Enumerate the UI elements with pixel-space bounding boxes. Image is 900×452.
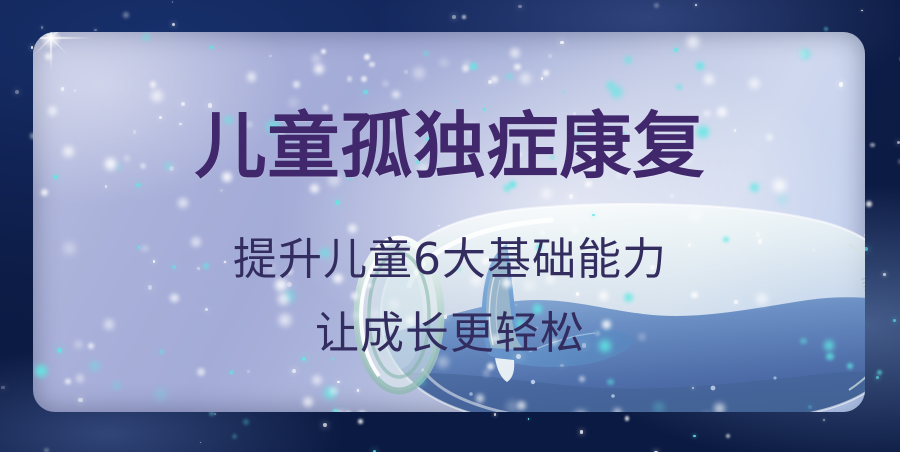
star-dot	[847, 363, 853, 369]
star-dot	[141, 245, 148, 252]
star-dot	[363, 90, 367, 94]
star-dot	[293, 81, 300, 88]
star-dot	[456, 266, 461, 271]
star-dot	[463, 60, 471, 68]
star-dot	[506, 243, 517, 254]
star-dot	[502, 278, 512, 288]
star-dot	[569, 194, 573, 198]
star-dot	[200, 442, 202, 444]
star-dot	[824, 340, 835, 351]
star-dot	[574, 411, 587, 412]
star-dot	[546, 274, 555, 283]
star-dot	[494, 413, 497, 416]
star-dot	[406, 316, 415, 325]
star-dot	[123, 12, 129, 18]
star-dot	[172, 23, 175, 26]
star-dot	[638, 333, 646, 341]
star-dot	[159, 349, 165, 355]
star-dot	[703, 110, 711, 118]
star-dot	[582, 343, 587, 348]
star-dot	[516, 354, 521, 359]
star-dot	[466, 122, 477, 133]
star-dot	[418, 163, 428, 173]
star-dot	[808, 405, 812, 409]
star-dot	[170, 294, 179, 303]
star-dot	[749, 78, 760, 89]
star-dot	[140, 163, 146, 169]
star-dot	[650, 265, 655, 270]
star-dot	[692, 387, 694, 389]
star-dot	[41, 26, 43, 28]
star-dot	[246, 121, 253, 128]
star-dot	[688, 243, 691, 246]
star-dot	[800, 49, 809, 58]
star-dot	[601, 231, 606, 236]
star-dot	[178, 198, 188, 208]
star-dot	[352, 311, 361, 320]
star-dot	[506, 400, 519, 412]
star-dot	[877, 370, 882, 375]
star-dot	[599, 340, 611, 352]
star-dot	[670, 194, 674, 198]
star-dot	[416, 160, 420, 164]
star-dot	[320, 248, 330, 258]
star-dot	[57, 348, 62, 353]
star-dot	[41, 189, 48, 196]
star-dot	[197, 368, 204, 375]
star-dot	[220, 189, 223, 192]
star-dot	[624, 293, 633, 302]
star-dot	[687, 36, 699, 48]
star-dot	[88, 343, 94, 349]
star-dot	[286, 268, 293, 275]
content-panel: made in china	[33, 32, 865, 412]
star-dot	[438, 225, 440, 227]
star-dot	[370, 309, 380, 319]
star-dot	[247, 72, 256, 81]
banner-root: made in china 儿童孤独症康复	[0, 0, 900, 452]
star-dot	[54, 175, 58, 179]
star-dot	[509, 181, 516, 188]
star-dot	[361, 76, 367, 82]
star-dot	[717, 107, 727, 117]
star-dot	[358, 419, 363, 424]
star-dot	[278, 293, 290, 305]
star-dot	[328, 174, 340, 186]
star-dot	[89, 361, 100, 372]
star-dot	[266, 263, 277, 274]
star-dot	[535, 327, 538, 330]
star-dot	[153, 260, 156, 263]
star-dot	[823, 419, 825, 421]
star-dot	[444, 315, 447, 318]
star-dot	[181, 102, 185, 106]
star-dot	[76, 374, 84, 382]
star-dot	[676, 84, 682, 90]
star-dot	[124, 155, 131, 162]
star-dot	[367, 283, 372, 288]
star-dot	[133, 130, 136, 133]
star-dot	[645, 247, 647, 249]
star-dot	[374, 263, 379, 268]
star-dot	[364, 54, 370, 60]
star-dot	[602, 320, 611, 329]
star-dot	[115, 163, 122, 170]
star-dot	[292, 369, 296, 373]
star-dot	[573, 112, 577, 116]
star-dot	[138, 246, 141, 249]
star-dot	[205, 308, 209, 312]
star-dot	[136, 183, 141, 188]
star-dot	[606, 81, 614, 89]
star-dot	[853, 411, 862, 412]
star-dot	[423, 51, 428, 56]
star-dot	[482, 257, 490, 265]
star-dot	[734, 300, 738, 304]
star-dot	[347, 76, 352, 81]
star-dot	[413, 67, 425, 79]
star-dot	[579, 376, 585, 382]
star-dot	[150, 81, 156, 87]
star-dot	[346, 411, 352, 412]
star-dot	[452, 15, 456, 19]
star-dot	[723, 237, 729, 243]
star-dot	[243, 419, 250, 426]
star-dot	[543, 70, 549, 76]
star-dot	[653, 402, 665, 412]
star-dot	[839, 82, 843, 86]
star-dot	[48, 106, 57, 115]
star-dot	[528, 418, 530, 420]
star-dot	[471, 275, 482, 286]
star-dot	[824, 27, 829, 32]
star-dot	[533, 304, 542, 313]
star-dot	[574, 132, 585, 143]
star-dot	[104, 319, 114, 329]
star-dot	[693, 435, 695, 437]
star-dot	[323, 423, 327, 427]
star-dot	[520, 73, 531, 84]
star-dot	[487, 363, 494, 370]
star-dot	[389, 299, 400, 310]
star-dot	[861, 10, 862, 11]
star-dot	[311, 54, 320, 63]
star-dot	[357, 389, 360, 392]
star-dot	[690, 211, 701, 222]
star-dot	[310, 184, 319, 193]
star-dot	[599, 291, 609, 301]
star-dot	[154, 388, 167, 401]
star-dot	[691, 292, 698, 299]
star-dot	[287, 282, 292, 287]
star-dot	[267, 121, 280, 134]
star-dot	[510, 48, 519, 57]
star-dot	[369, 62, 375, 68]
star-dot	[491, 335, 499, 343]
star-dot	[613, 408, 623, 412]
star-dot	[203, 263, 209, 269]
star-dot	[179, 123, 181, 125]
star-dot	[74, 89, 77, 92]
star-dot	[866, 201, 872, 207]
star-dot	[169, 166, 174, 171]
star-dot	[541, 188, 552, 199]
star-dot	[616, 173, 622, 179]
star-dot	[756, 293, 768, 305]
star-dot	[112, 381, 121, 390]
star-dot	[434, 121, 437, 124]
star-dot	[562, 91, 565, 94]
star-dot	[323, 105, 329, 111]
star-dot	[453, 101, 455, 103]
star-dot	[524, 280, 535, 291]
star-dot	[61, 87, 64, 90]
star-dot	[625, 416, 629, 420]
star-dot	[897, 141, 900, 144]
star-dot	[777, 194, 788, 205]
star-dot	[333, 409, 338, 412]
star-dot	[279, 314, 291, 326]
star-dot	[65, 379, 71, 385]
star-dot	[514, 64, 520, 70]
star-dot	[517, 401, 526, 410]
star-dot	[611, 86, 623, 98]
star-dot	[758, 239, 763, 244]
star-dot	[876, 376, 879, 379]
star-dot	[883, 273, 886, 276]
star-dot	[592, 214, 595, 217]
star-dot	[551, 338, 558, 345]
star-dot	[348, 224, 357, 233]
star-dot	[151, 90, 163, 102]
star-dot	[333, 274, 343, 284]
star-dot	[695, 4, 697, 6]
star-dot	[470, 63, 477, 70]
star-dot	[607, 379, 614, 386]
star-dot	[417, 377, 426, 386]
star-dot	[164, 162, 172, 170]
star-dot	[44, 448, 49, 452]
star-dot	[224, 261, 226, 263]
star-dot	[799, 50, 807, 58]
star-dot	[222, 172, 232, 182]
star-dot	[269, 55, 271, 57]
star-dot	[714, 403, 725, 412]
star-dot	[483, 369, 490, 376]
star-dot	[437, 356, 449, 368]
star-dot	[78, 398, 82, 402]
star-dot	[726, 434, 730, 438]
starburst-sparkle-icon	[33, 32, 94, 81]
star-dot	[63, 242, 76, 255]
star-dot	[214, 413, 216, 415]
star-dot	[63, 146, 74, 157]
star-dot	[337, 381, 340, 384]
star-dot	[312, 375, 322, 385]
star-dot	[550, 155, 555, 160]
star-dot	[462, 15, 467, 20]
star-dot	[470, 322, 480, 332]
star-dot	[397, 151, 399, 153]
star-dot	[654, 3, 659, 8]
star-dot	[595, 331, 600, 336]
star-dot	[382, 80, 389, 87]
star-dot	[870, 143, 874, 147]
star-dot	[303, 397, 313, 407]
star-dot	[392, 91, 400, 99]
star-dot	[321, 49, 327, 55]
star-dot	[696, 62, 704, 70]
star-dot	[335, 200, 340, 205]
star-dot	[734, 129, 736, 131]
star-dot	[148, 285, 153, 290]
star-dot	[503, 184, 511, 192]
star-dot	[408, 242, 410, 244]
star-dot	[302, 357, 307, 362]
star-dot	[15, 90, 19, 94]
star-dot	[540, 230, 545, 235]
star-dot	[247, 370, 250, 373]
panel-light-bloom	[33, 32, 865, 412]
star-dot	[172, 265, 176, 269]
star-dot	[773, 179, 786, 192]
star-dot	[275, 279, 287, 291]
star-dot	[314, 64, 325, 75]
star-dot	[517, 152, 522, 157]
star-dot	[404, 70, 408, 74]
star-dot	[329, 387, 338, 396]
star-dot	[348, 178, 350, 180]
star-dot	[491, 76, 498, 83]
star-dot	[674, 48, 678, 52]
star-dot	[756, 232, 761, 237]
star-dot	[332, 358, 334, 360]
star-dot	[299, 126, 301, 128]
star-dot	[197, 267, 200, 270]
star-dot	[532, 265, 536, 269]
star-dot	[417, 145, 429, 157]
star-dot	[548, 54, 552, 58]
star-dot	[427, 357, 430, 360]
star-dot	[426, 137, 430, 141]
star-dot	[358, 411, 366, 412]
star-dot	[586, 155, 599, 168]
star-dot	[105, 158, 117, 170]
svg-text:made in: made in	[858, 275, 865, 322]
star-dot	[516, 319, 524, 327]
star-dot	[813, 249, 815, 251]
star-dot	[172, 1, 174, 3]
star-dot	[624, 56, 632, 64]
star-dot	[1, 386, 5, 390]
star-dot	[518, 5, 522, 9]
star-dot	[288, 97, 299, 108]
star-dot	[826, 353, 834, 361]
star-dot	[210, 46, 213, 49]
star-dot	[439, 58, 449, 68]
star-dot	[142, 33, 150, 41]
star-dot	[230, 371, 233, 374]
star-dot	[682, 154, 692, 164]
glass-bottle-illustration: made in china	[283, 182, 865, 412]
star-dot	[224, 116, 233, 125]
star-dot	[580, 430, 583, 433]
star-dot	[560, 41, 564, 45]
star-dot	[386, 120, 397, 131]
star-dot	[462, 65, 469, 72]
star-dot	[351, 292, 359, 300]
star-dot	[232, 434, 237, 439]
star-dot	[324, 387, 336, 399]
star-dot	[208, 103, 213, 108]
star-dot	[105, 185, 108, 188]
star-dot	[697, 126, 709, 138]
panel-starfield	[33, 32, 865, 412]
star-dot	[261, 239, 272, 250]
star-dot	[45, 53, 52, 60]
star-dot	[704, 74, 715, 85]
star-dot	[599, 152, 611, 164]
star-dot	[35, 365, 47, 377]
star-dot	[347, 174, 353, 180]
star-dot	[483, 108, 486, 111]
star-dot	[488, 80, 492, 84]
star-dot	[571, 226, 579, 234]
star-dot	[560, 364, 564, 368]
star-dot	[74, 340, 83, 349]
star-dot	[766, 134, 773, 141]
star-dot	[750, 183, 759, 192]
star-dot	[800, 338, 807, 345]
star-dot	[476, 394, 484, 402]
star-dot	[506, 73, 513, 80]
star-dot	[284, 290, 296, 302]
star-dot	[536, 244, 543, 251]
star-dot	[515, 304, 517, 306]
star-dot	[585, 181, 592, 188]
star-dot	[541, 77, 544, 80]
star-dot	[159, 116, 162, 119]
star-dot	[576, 292, 580, 296]
star-dot	[191, 237, 201, 247]
star-dot	[278, 131, 284, 137]
star-dot	[622, 132, 625, 135]
star-dot	[333, 411, 342, 412]
star-dot	[893, 319, 896, 322]
